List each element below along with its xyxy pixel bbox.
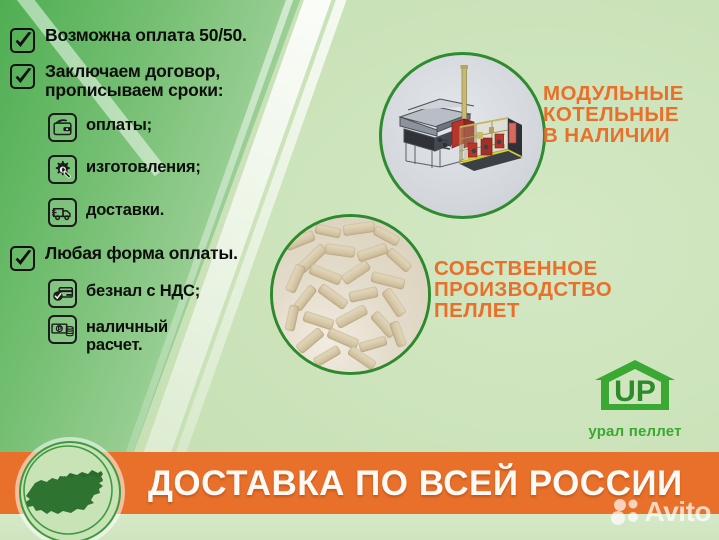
contract-term-label: оплаты; <box>86 117 152 135</box>
banknote-coins-glyph <box>51 320 74 339</box>
contract-term-manufacturing: изготовления; <box>48 155 201 184</box>
logo-monogram: UP <box>614 375 656 408</box>
contract-term-delivery: доставки. <box>48 198 164 227</box>
delivery-truck-icon <box>48 198 77 227</box>
avito-watermark-text: Avito <box>645 496 711 528</box>
feature-heading-boilers: МОДУЛЬНЫЕ КОТЕЛЬНЫЕ В НАЛИЧИИ <box>543 83 684 146</box>
russia-map-icon <box>19 441 121 540</box>
boiler-cad-render <box>382 55 536 209</box>
avito-watermark: Avito <box>611 496 711 528</box>
contract-term-label: доставки. <box>86 202 164 220</box>
gear-wrench-glyph <box>52 159 74 181</box>
wallet-glyph <box>52 117 73 138</box>
payment-method-label: наличный расчет. <box>86 319 168 354</box>
truck-glyph <box>52 203 74 223</box>
checklist-item-label: Заключаем договор, прописываем сроки: <box>45 62 223 100</box>
checkbox-checked-icon <box>10 28 35 53</box>
modular-boiler-plant-photo <box>379 52 546 219</box>
wood-pellets-photo <box>270 214 431 375</box>
checklist-item-contract: Заключаем договор, прописываем сроки: <box>10 62 223 100</box>
brand-logo: UP урал пеллет <box>575 358 695 440</box>
check-mark-glyph <box>14 31 33 51</box>
house-outline-icon: UP <box>591 358 679 416</box>
check-mark-glyph <box>14 67 33 87</box>
contract-term-label: изготовления; <box>86 159 201 177</box>
contract-term-payment: оплаты; <box>48 113 152 142</box>
cash-ruble-icon <box>48 315 77 344</box>
checklist-item-label: Любая форма оплаты. <box>45 244 238 263</box>
credit-card-check-icon <box>48 279 77 308</box>
checkbox-checked-icon <box>10 246 35 271</box>
wallet-icon <box>48 113 77 142</box>
feature-heading-pellets: СОБСТВЕННОЕ ПРОИЗВОДСТВО ПЕЛЛЕТ <box>434 258 612 321</box>
check-mark-glyph <box>14 249 33 269</box>
advertisement-banner: Возможна оплата 50/50. Заключаем договор… <box>0 0 719 540</box>
card-check-glyph <box>52 285 74 303</box>
checklist-item-label: Возможна оплата 50/50. <box>45 26 247 45</box>
payment-method-label: безнал с НДС; <box>86 283 200 301</box>
avito-logo-icon <box>611 498 641 526</box>
logo-wordmark: урал пеллет <box>575 423 695 440</box>
russia-map-silhouette <box>21 443 115 537</box>
payment-method-cashless: безнал с НДС; <box>48 279 200 308</box>
gear-wrench-icon <box>48 155 77 184</box>
checklist-item-payment-split: Возможна оплата 50/50. <box>10 26 247 53</box>
checkbox-checked-icon <box>10 64 35 89</box>
payment-method-cash: наличный расчет. <box>48 315 168 354</box>
checklist-item-any-payment-form: Любая форма оплаты. <box>10 244 238 271</box>
